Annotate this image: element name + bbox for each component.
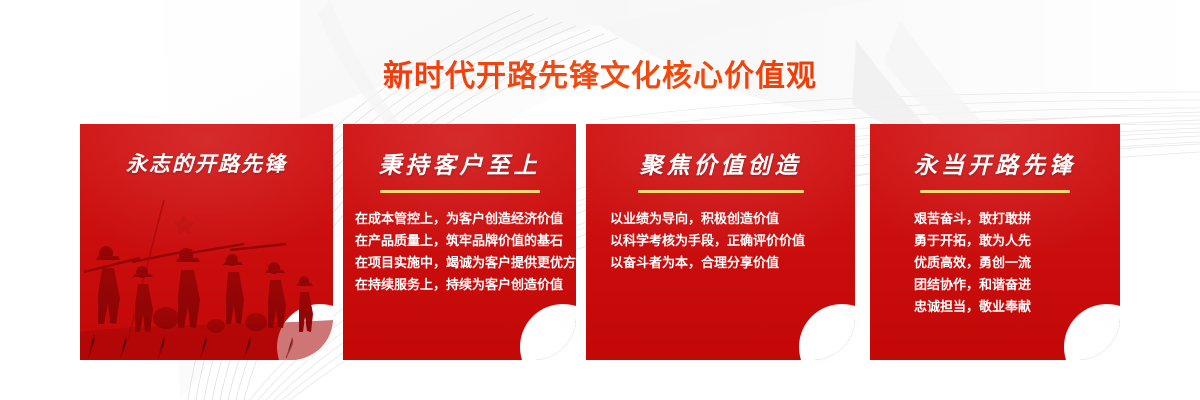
corner-notch [799, 304, 855, 360]
page-title: 新时代开路先锋文化核心价值观 [383, 51, 817, 95]
card-heading: 聚焦价值创造 [586, 124, 855, 180]
card-body: 以业绩为导向，积极创造价值 以科学考核为手段，正确评价价值 以奋斗者为本，合理分… [586, 209, 855, 275]
heading-underline [380, 190, 540, 193]
card-body-line: 以奋斗者为本，合理分享价值 [610, 253, 855, 275]
card-heading: 永当开路先锋 [870, 124, 1120, 180]
page-title-container: 新时代开路先锋文化核心价值观 [0, 50, 1200, 96]
corner-notch [520, 304, 576, 360]
card-heading: 永志的开路先锋 [80, 124, 333, 178]
card-body-line: 在成本管控上，为客户创造经济价值 [355, 209, 576, 231]
card-body: 在成本管控上，为客户创造经济价值 在产品质量上，筑牢品牌价值的基石 在项目实施中… [343, 209, 576, 297]
card-body-line: 以科学考核为手段，正确评价价值 [610, 231, 855, 253]
card-body-line: 在持续服务上，持续为客户创造价值 [355, 275, 576, 297]
card-body-line: 在产品质量上，筑牢品牌价值的基石 [355, 231, 576, 253]
card-value-creation[interactable]: 聚焦价值创造 以业绩为导向，积极创造价值 以科学考核为手段，正确评价价值 以奋斗… [586, 124, 855, 360]
heading-underline [920, 190, 1070, 193]
value-cards-row: 永志的开路先锋 秉持客户至上 在成本管控上，为客户创造经济价值 在产品质量上，筑… [0, 124, 1200, 360]
card-customer-first[interactable]: 秉持客户至上 在成本管控上，为客户创造经济价值 在产品质量上，筑牢品牌价值的基石… [343, 124, 576, 360]
card-body-line: 艰苦奋斗，敢打敢拼 [914, 209, 1120, 231]
card-body: 艰苦奋斗，敢打敢拼 勇于开拓，敢为人先 优质高效，勇创一流 团结协作，和谐奋进 … [870, 209, 1120, 319]
card-always-pioneer[interactable]: 永当开路先锋 艰苦奋斗，敢打敢拼 勇于开拓，敢为人先 优质高效，勇创一流 团结协… [870, 124, 1120, 360]
card-pioneer[interactable]: 永志的开路先锋 [80, 124, 333, 360]
card-body-line: 团结协作，和谐奋进 [914, 275, 1120, 297]
corner-notch [277, 304, 333, 360]
card-body-line: 优质高效，勇创一流 [914, 253, 1120, 275]
heading-underline [638, 190, 804, 193]
card-heading: 秉持客户至上 [343, 124, 576, 180]
card-body-line: 在项目实施中，竭诚为客户提供更优方案 [355, 253, 576, 275]
card-body-line: 以业绩为导向，积极创造价值 [610, 209, 855, 231]
card-body-line: 勇于开拓，敢为人先 [914, 231, 1120, 253]
